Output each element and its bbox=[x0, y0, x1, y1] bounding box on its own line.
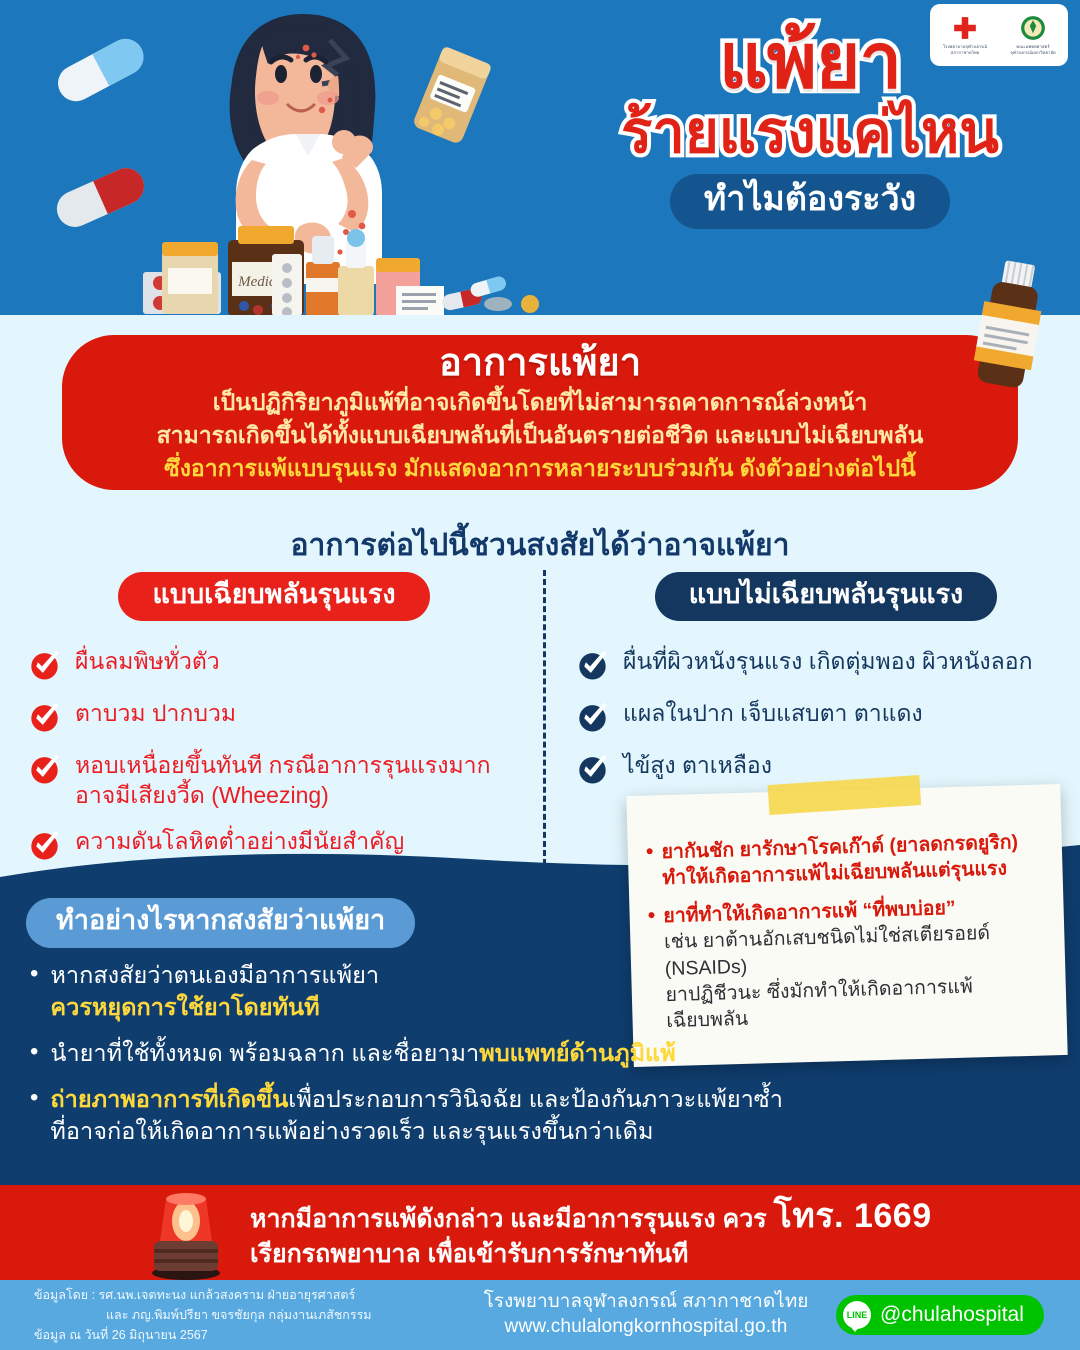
howto-item-2-text: นำยาที่ใช้ทั้งหมด พร้อมฉลาก และชื่อยามา bbox=[50, 1040, 479, 1066]
siren-icon bbox=[140, 1185, 232, 1280]
banner-line-1: เป็นปฏิกิริยาภูมิแพ้ที่อาจเกิดขึ้นโดยที่… bbox=[62, 386, 1018, 419]
banner-title: อาการแพ้ยา bbox=[62, 342, 1018, 386]
credit-line-3: ข้อมูล ณ วันที่ 26 มิถุนายน 2567 bbox=[34, 1325, 454, 1345]
symptom-overview-banner: อาการแพ้ยา เป็นปฏิกิริยาภูมิแพ้ที่อาจเกิ… bbox=[62, 335, 1018, 490]
check-icon bbox=[576, 701, 609, 734]
emergency-line-1-text: หากมีอาการแพ้ดังกล่าว และมีอาการรุนแรง ค… bbox=[250, 1205, 767, 1233]
check-icon bbox=[28, 649, 61, 682]
acute-tag-wrap: แบบเฉียบพลันรุนแรง bbox=[28, 572, 520, 621]
page-title-pill: ทำไมต้องระวัง bbox=[670, 174, 950, 229]
credit-line-1: ข้อมูลโดย : รศ.นพ.เจตทะนง แกล้วสงคราม ฝ่… bbox=[34, 1285, 454, 1305]
howto-item-1-text: หากสงสัยว่าตนเองมีอาการแพ้ยา bbox=[50, 962, 379, 988]
list-item: • หากสงสัยว่าตนเองมีอาการแพ้ยา ควรหยุดกา… bbox=[30, 960, 840, 1024]
howto-item-3-emphasis: ถ่ายภาพอาการที่เกิดขึ้น bbox=[50, 1086, 288, 1112]
list-item: แผลในปาก เจ็บแสบตา ตาแดง bbox=[576, 699, 1076, 734]
footer-credits: ข้อมูลโดย : รศ.นพ.เจตทะนง แกล้วสงคราม ฝ่… bbox=[34, 1285, 454, 1346]
bullet-dot: • bbox=[30, 1038, 38, 1070]
nonacute-tag-wrap: แบบไม่เฉียบพลันรุนแรง bbox=[576, 572, 1076, 621]
list-item-label: ผื่นที่ผิวหนังรุนแรง เกิดตุ่มพอง ผิวหนัง… bbox=[623, 647, 1033, 677]
howto-item-2: นำยาที่ใช้ทั้งหมด พร้อมฉลาก และชื่อยามาพ… bbox=[50, 1038, 675, 1070]
list-item-label: ตาบวม ปากบวม bbox=[75, 699, 236, 729]
emergency-line-2: เรียกรถพยาบาล เพื่อเข้ารับการรักษาทันที bbox=[250, 1238, 932, 1271]
note-item: • ยากันชัก ยารักษาโรคเก๊าต์ (ยาลดกรดยูริ… bbox=[646, 828, 1045, 891]
bullet-dot: • bbox=[30, 1084, 38, 1148]
list-item: ผื่นที่ผิวหนังรุนแรง เกิดตุ่มพอง ผิวหนัง… bbox=[576, 647, 1076, 682]
emergency-line-1: หากมีอาการแพ้ดังกล่าว และมีอาการรุนแรง ค… bbox=[250, 1194, 932, 1239]
line-badge[interactable]: LINE @chulahospital bbox=[836, 1295, 1044, 1335]
list-item-label: หอบเหนื่อยขึ้นทันที กรณีอาการรุนแรงมาก อ… bbox=[75, 751, 520, 811]
footer-hospital: โรงพยาบาลจุฬาลงกรณ์ สภากาชาดไทย www.chul… bbox=[466, 1290, 826, 1339]
bullet-dot: • bbox=[30, 960, 38, 1024]
hospital-name: โรงพยาบาลจุฬาลงกรณ์ สภากาชาดไทย bbox=[466, 1290, 826, 1315]
column-divider bbox=[543, 570, 546, 865]
howto-item-3-text2: ที่อาจก่อให้เกิดอาการแพ้อย่างรวดเร็ว และ… bbox=[50, 1118, 653, 1144]
howto-item-1: หากสงสัยว่าตนเองมีอาการแพ้ยา ควรหยุดการใ… bbox=[50, 960, 379, 1024]
page-title-main: แพ้ยา bbox=[560, 26, 1060, 99]
acute-column: แบบเฉียบพลันรุนแรง ผื่นลมพิษทั่วตัว ตาบว… bbox=[28, 572, 520, 879]
footer-bar: ข้อมูลโดย : รศ.นพ.เจตทะนง แกล้วสงคราม ฝ่… bbox=[0, 1280, 1080, 1350]
check-icon bbox=[28, 701, 61, 734]
hospital-website[interactable]: www.chulalongkornhospital.go.th bbox=[466, 1315, 826, 1340]
check-icon bbox=[576, 753, 609, 786]
howto-list: • หากสงสัยว่าตนเองมีอาการแพ้ยา ควรหยุดกา… bbox=[30, 960, 840, 1162]
howto-item-3: ถ่ายภาพอาการที่เกิดขึ้นเพื่อประกอบการวิน… bbox=[50, 1084, 783, 1148]
emergency-banner: หากมีอาการแพ้ดังกล่าว และมีอาการรุนแรง ค… bbox=[0, 1185, 1080, 1280]
section-heading: อาการต่อไปนี้ชวนสงสัยได้ว่าอาจแพ้ยา bbox=[0, 522, 1080, 569]
emergency-phone-number: โทร. 1669 bbox=[774, 1197, 932, 1235]
banner-line-3: ซึ่งอาการแพ้แบบรุนแรง มักแสดงอาการหลายระ… bbox=[62, 452, 1018, 485]
infographic-page: Medicine bbox=[0, 0, 1080, 1350]
howto-tag: ทำอย่างไรหากสงสัยว่าแพ้ยา bbox=[26, 898, 415, 948]
line-icon: LINE bbox=[843, 1301, 871, 1329]
acute-tag: แบบเฉียบพลันรุนแรง bbox=[118, 572, 429, 621]
bullet-dot: • bbox=[646, 839, 655, 891]
nonacute-item-list: ผื่นที่ผิวหนังรุนแรง เกิดตุ่มพอง ผิวหนัง… bbox=[576, 647, 1076, 786]
credit-line-2: และ ภญ.พิมพ์ปรียา ขจรชัยกุล กลุ่มงานเภสั… bbox=[34, 1305, 454, 1325]
list-item: • นำยาที่ใช้ทั้งหมด พร้อมฉลาก และชื่อยาม… bbox=[30, 1038, 840, 1070]
check-icon bbox=[576, 649, 609, 682]
howto-item-1-emphasis: ควรหยุดการใช้ยาโดยทันที bbox=[50, 994, 319, 1020]
list-item: • ถ่ายภาพอาการที่เกิดขึ้นเพื่อประกอบการว… bbox=[30, 1084, 840, 1148]
check-icon bbox=[28, 753, 61, 786]
nonacute-column: แบบไม่เฉียบพลันรุนแรง ผื่นที่ผิวหนังรุนแ… bbox=[576, 572, 1076, 803]
medicine-bottle-decoration bbox=[950, 258, 1070, 393]
list-item: ตาบวม ปากบวม bbox=[28, 699, 520, 734]
page-title-sub: ร้ายแรงแค่ไหน bbox=[560, 103, 1060, 164]
list-item-label: ผื่นลมพิษทั่วตัว bbox=[75, 647, 220, 677]
nonacute-tag: แบบไม่เฉียบพลันรุนแรง bbox=[655, 572, 997, 621]
emergency-text: หากมีอาการแพ้ดังกล่าว และมีอาการรุนแรง ค… bbox=[250, 1194, 932, 1272]
headline-group: แพ้ยา ร้ายแรงแค่ไหน ทำไมต้องระวัง bbox=[560, 26, 1060, 229]
list-item: ผื่นลมพิษทั่วตัว bbox=[28, 647, 520, 682]
hero-section: Medicine bbox=[0, 0, 1080, 315]
list-item-label: ไข้สูง ตาเหลือง bbox=[623, 751, 772, 781]
banner-line-2: สามารถเกิดขึ้นได้ทั้งแบบเฉียบพลันที่เป็น… bbox=[62, 419, 1018, 452]
howto-item-3-text: เพื่อประกอบการวินิจฉัย และป้องกันภาวะแพ้… bbox=[288, 1086, 783, 1112]
list-item-label: แผลในปาก เจ็บแสบตา ตาแดง bbox=[623, 699, 923, 729]
acute-item-list: ผื่นลมพิษทั่วตัว ตาบวม ปากบวม หอบเหนื่อย… bbox=[28, 647, 520, 863]
hero-illustration: Medicine bbox=[0, 0, 620, 315]
howto-item-2-emphasis: พบแพทย์ด้านภูมิแพ้ bbox=[479, 1040, 675, 1066]
note-item-body: ยากันชัก ยารักษาโรคเก๊าต์ (ยาลดกรดยูริก)… bbox=[661, 829, 1019, 891]
line-handle: @chulahospital bbox=[880, 1303, 1024, 1327]
list-item: หอบเหนื่อยขึ้นทันที กรณีอาการรุนแรงมาก อ… bbox=[28, 751, 520, 811]
